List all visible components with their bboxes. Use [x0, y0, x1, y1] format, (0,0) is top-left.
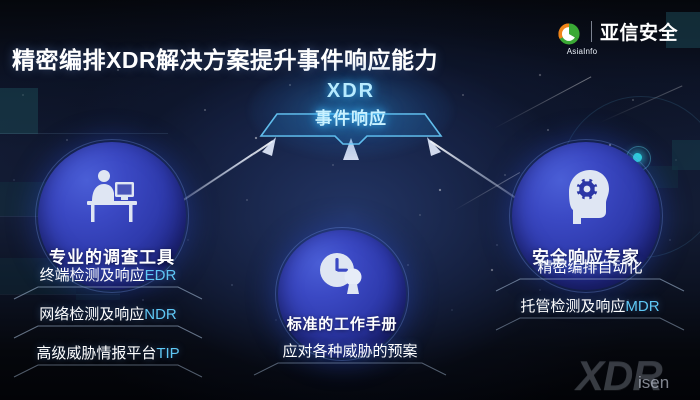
logo-latin-name: AsiaInfo [556, 47, 608, 56]
bullet-cn: 应对各种威胁的预案 [282, 343, 417, 360]
bullet-cn: 托管检测及响应 [520, 298, 625, 315]
watermark-isen: isen [638, 373, 669, 393]
chevron-underline-icon [494, 278, 686, 292]
list-item[interactable]: 网络检测及响应NDR [12, 305, 204, 339]
list-item[interactable]: 精密编排自动化 [494, 258, 686, 292]
node-label: 专业的调查工具 [38, 243, 186, 268]
node-standard-playbook[interactable]: 标准的工作手册 [278, 230, 406, 358]
list-item[interactable]: 应对各种威胁的预案 [252, 342, 448, 376]
bullet-cn: 网络检测及响应 [39, 306, 144, 323]
clock-icon [315, 250, 369, 300]
xdr-hub: XDR 事件响应 [277, 78, 425, 138]
brand-logo: AsiaInfo 亚信安全 [556, 18, 678, 49]
head-with-gear-icon [555, 168, 617, 226]
slide-canvas: 精密编排XDR解决方案提升事件响应能力 AsiaInfo 亚信安全 [0, 0, 700, 400]
bullet-text: 托管检测及响应MDR [494, 297, 686, 317]
chevron-underline-icon [12, 286, 204, 300]
bullet-en: TIP [156, 345, 179, 362]
chevron-underline-icon [12, 364, 204, 378]
bullet-en: NDR [144, 306, 177, 323]
deco-hairline-a [0, 133, 168, 134]
node-label: 标准的工作手册 [278, 313, 406, 334]
bullet-text: 高级威胁情报平台TIP [12, 344, 204, 364]
logo-divider [591, 21, 592, 42]
hub-line-2: 事件响应 [277, 104, 425, 129]
bullet-list-right: 精密编排自动化 托管检测及响应MDR [494, 258, 686, 336]
chevron-underline-icon [12, 325, 204, 339]
bullet-cn: 精密编排自动化 [537, 259, 642, 276]
asiainfo-droplet-icon [556, 21, 582, 47]
bullet-text: 应对各种威胁的预案 [252, 342, 448, 362]
list-item[interactable]: 终端检测及响应EDR [12, 266, 204, 300]
chevron-underline-icon [494, 317, 686, 331]
bullet-text: 精密编排自动化 [494, 258, 686, 278]
list-item[interactable]: 高级威胁情报平台TIP [12, 344, 204, 378]
bullet-text: 网络检测及响应NDR [12, 305, 204, 325]
streak-left [176, 154, 253, 206]
bullet-list-center: 应对各种威胁的预案 [252, 342, 448, 381]
bullet-list-left: 终端检测及响应EDR 网络检测及响应NDR 高级威胁情报平台TIP [12, 266, 204, 383]
bullet-text: 终端检测及响应EDR [12, 266, 204, 286]
hub-labels: XDR 事件响应 [277, 80, 425, 129]
watermark-xdr: XDR [576, 352, 662, 400]
deco-block-topleft-a [0, 88, 38, 134]
streak-right [494, 76, 592, 129]
hub-line-1: XDR [277, 80, 425, 103]
list-item[interactable]: 托管检测及响应MDR [494, 297, 686, 331]
bullet-cn: 高级威胁情报平台 [36, 345, 156, 362]
bullet-en: EDR [145, 267, 177, 284]
analyst-at-desk-icon [79, 168, 145, 224]
logo-chinese-name: 亚信安全 [600, 18, 678, 45]
chevron-underline-icon [252, 362, 448, 376]
bullet-cn: 终端检测及响应 [40, 267, 145, 284]
bullet-en: MDR [625, 298, 659, 315]
